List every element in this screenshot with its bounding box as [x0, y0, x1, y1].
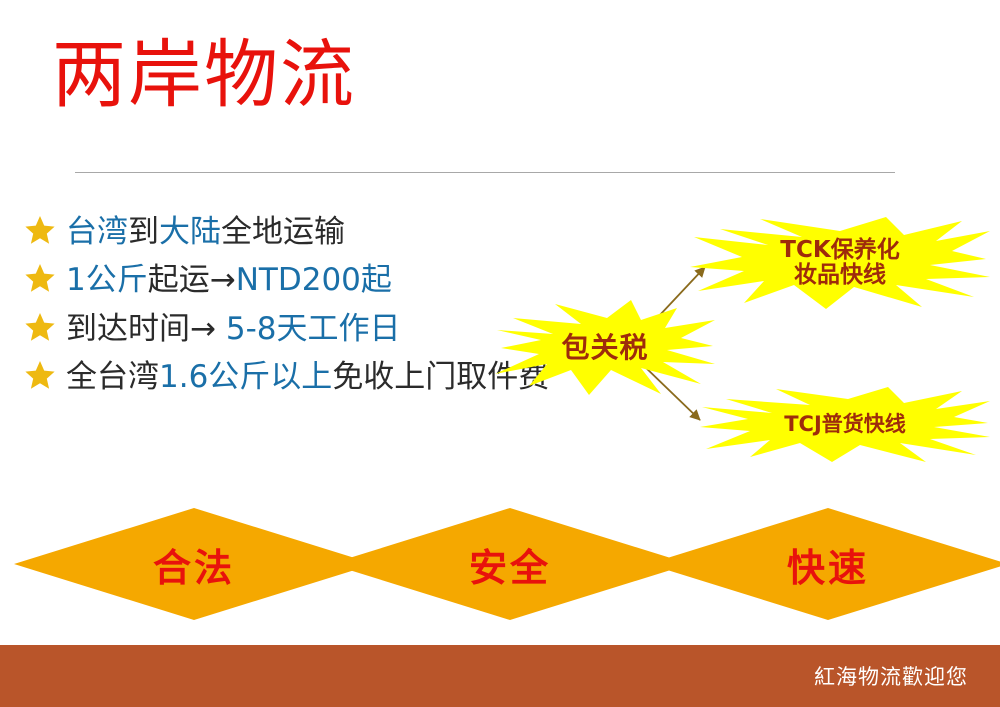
text-segment: 5-8天工作日 [226, 311, 401, 347]
burst-shape-tcj: TCJ普货快线 [700, 387, 990, 462]
star-icon [24, 262, 60, 300]
text-segment: 1公斤 [66, 262, 148, 298]
burst-shape-tck: TCK保养化 妆品快线 [690, 215, 990, 310]
star-icon [24, 214, 60, 252]
footer-bar: 紅海物流歡迎您 [0, 645, 1000, 707]
text-segment: NTD200起 [236, 262, 392, 298]
title-divider [75, 172, 895, 173]
list-item-text: 台湾到大陆全地运输 [66, 212, 345, 252]
footer-text: 紅海物流歡迎您 [814, 661, 968, 691]
poster-root: 两岸物流 台湾到大陆全地运输 1公斤起运→NTD200起 [0, 0, 1000, 707]
list-item-text: 到达时间→ 5-8天工作日 [66, 309, 400, 349]
star-icon [24, 311, 60, 349]
service-burst-diagram: TCK保养化 妆品快线 包关税 TCJ普货快线 [495, 205, 1000, 465]
list-item-text: 全台湾1.6公斤以上免收上门取件费 [66, 357, 549, 397]
text-segment: 起运→ [148, 262, 236, 298]
value-diamond-banner: 合法 安全 快速 [0, 508, 1000, 620]
text-segment: 到 [128, 214, 159, 250]
diamond-fast: 快速 [648, 508, 1000, 620]
page-title: 两岸物流 [52, 38, 356, 112]
text-segment: 台湾 [66, 214, 128, 250]
diamond-label: 合法 [14, 508, 374, 620]
diamond-label: 快速 [648, 508, 1000, 620]
diamond-legal: 合法 [14, 508, 374, 620]
text-segment: 大陆 [159, 214, 221, 250]
text-segment: 到达时间→ [66, 311, 226, 347]
text-segment: 1.6公斤以上 [159, 359, 332, 395]
list-item-text: 1公斤起运→NTD200起 [66, 260, 392, 300]
star-icon [24, 359, 60, 397]
text-segment: 全地运输 [221, 214, 345, 250]
diamond-safe: 安全 [330, 508, 690, 620]
burst-shape-customs: 包关税 [495, 300, 715, 395]
text-segment: 全台湾 [66, 359, 159, 395]
diamond-label: 安全 [330, 508, 690, 620]
